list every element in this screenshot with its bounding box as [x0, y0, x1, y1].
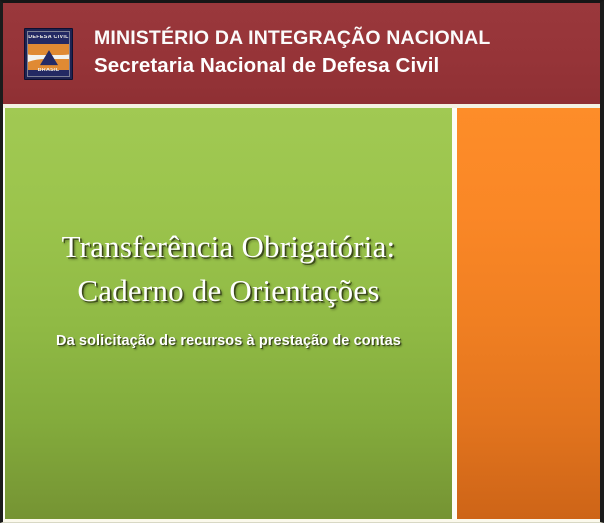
cover-text-block: Transferência Obrigatória: Caderno de Or…: [5, 225, 452, 351]
brasao-wave-field: [28, 44, 69, 70]
secretariat-title: Secretaria Nacional de Defesa Civil: [94, 53, 490, 79]
bottom-edge-strip: [3, 519, 600, 522]
ministry-title: MINISTÉRIO DA INTEGRAÇÃO NACIONAL: [94, 27, 490, 51]
cover-body: Transferência Obrigatória: Caderno de Or…: [3, 108, 600, 523]
brasao-bottom-label: BRASIL: [28, 68, 69, 73]
green-title-panel: Transferência Obrigatória: Caderno de Or…: [5, 108, 452, 521]
cover-page: DEFESA CIVIL BRASIL MINISTÉRIO DA INTEGR…: [0, 0, 604, 523]
header-title-block: MINISTÉRIO DA INTEGRAÇÃO NACIONAL Secret…: [94, 27, 490, 78]
orange-accent-panel: [457, 108, 600, 521]
brasao-top-label: DEFESA CIVIL: [28, 35, 69, 40]
cover-subtitle: Da solicitação de recursos à prestação d…: [15, 332, 442, 351]
header-banner: DEFESA CIVIL BRASIL MINISTÉRIO DA INTEGR…: [3, 3, 600, 104]
cover-title-line-1: Transferência Obrigatória:: [62, 229, 396, 264]
defesa-civil-brasao-icon: DEFESA CIVIL BRASIL: [24, 28, 73, 80]
brasao-triangle-icon: [40, 50, 58, 65]
brasao-inner-frame: DEFESA CIVIL BRASIL: [27, 31, 70, 77]
cover-title: Transferência Obrigatória: Caderno de Or…: [15, 225, 442, 313]
cover-title-line-2: Caderno de Orientações: [15, 269, 442, 313]
